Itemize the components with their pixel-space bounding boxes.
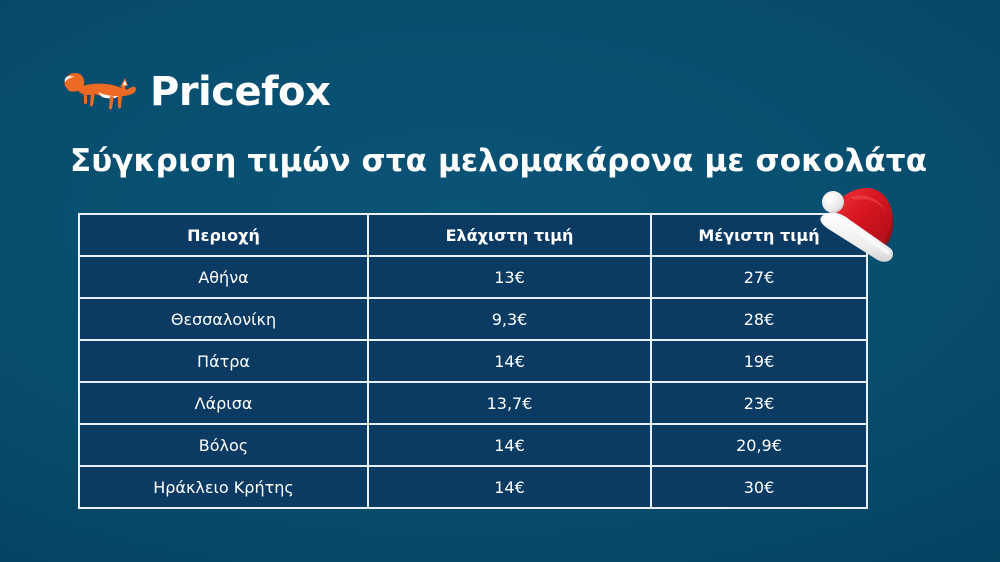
table-row: Πάτρα 14€ 19€ bbox=[79, 340, 867, 382]
cell-region: Πάτρα bbox=[79, 340, 368, 382]
slide-canvas: Pricefox Σύγκριση τιμών στα μελομακάρονα… bbox=[0, 0, 1000, 562]
cell-max-price: 23€ bbox=[651, 382, 867, 424]
cell-region: Θεσσαλονίκη bbox=[79, 298, 368, 340]
cell-min-price: 14€ bbox=[368, 424, 651, 466]
cell-min-price: 14€ bbox=[368, 466, 651, 508]
table-row: Βόλος 14€ 20,9€ bbox=[79, 424, 867, 466]
cell-min-price: 13,7€ bbox=[368, 382, 651, 424]
cell-region: Λάρισα bbox=[79, 382, 368, 424]
cell-max-price: 20,9€ bbox=[651, 424, 867, 466]
cell-min-price: 14€ bbox=[368, 340, 651, 382]
page-title: Σύγκριση τιμών στα μελομακάρονα με σοκολ… bbox=[70, 143, 927, 179]
table-row: Λάρισα 13,7€ 23€ bbox=[79, 382, 867, 424]
cell-region: Βόλος bbox=[79, 424, 368, 466]
column-header-max-price: Μέγιστη τιμή bbox=[651, 214, 867, 256]
column-header-min-price: Ελάχιστη τιμή bbox=[368, 214, 651, 256]
cell-region: Ηράκλειο Κρήτης bbox=[79, 466, 368, 508]
table-row: Ηράκλειο Κρήτης 14€ 30€ bbox=[79, 466, 867, 508]
cell-max-price: 27€ bbox=[651, 256, 867, 298]
cell-min-price: 13€ bbox=[368, 256, 651, 298]
price-comparison-table: Περιοχή Ελάχιστη τιμή Μέγιστη τιμή Αθήνα… bbox=[78, 213, 866, 509]
cell-region: Αθήνα bbox=[79, 256, 368, 298]
cell-max-price: 19€ bbox=[651, 340, 867, 382]
cell-max-price: 30€ bbox=[651, 466, 867, 508]
table-row: Αθήνα 13€ 27€ bbox=[79, 256, 867, 298]
fox-icon bbox=[62, 68, 140, 116]
table-row: Θεσσαλονίκη 9,3€ 28€ bbox=[79, 298, 867, 340]
cell-min-price: 9,3€ bbox=[368, 298, 651, 340]
table-header-row: Περιοχή Ελάχιστη τιμή Μέγιστη τιμή bbox=[79, 214, 867, 256]
brand-logo: Pricefox bbox=[62, 68, 330, 116]
cell-max-price: 28€ bbox=[651, 298, 867, 340]
brand-wordmark: Pricefox bbox=[150, 72, 330, 112]
column-header-region: Περιοχή bbox=[79, 214, 368, 256]
